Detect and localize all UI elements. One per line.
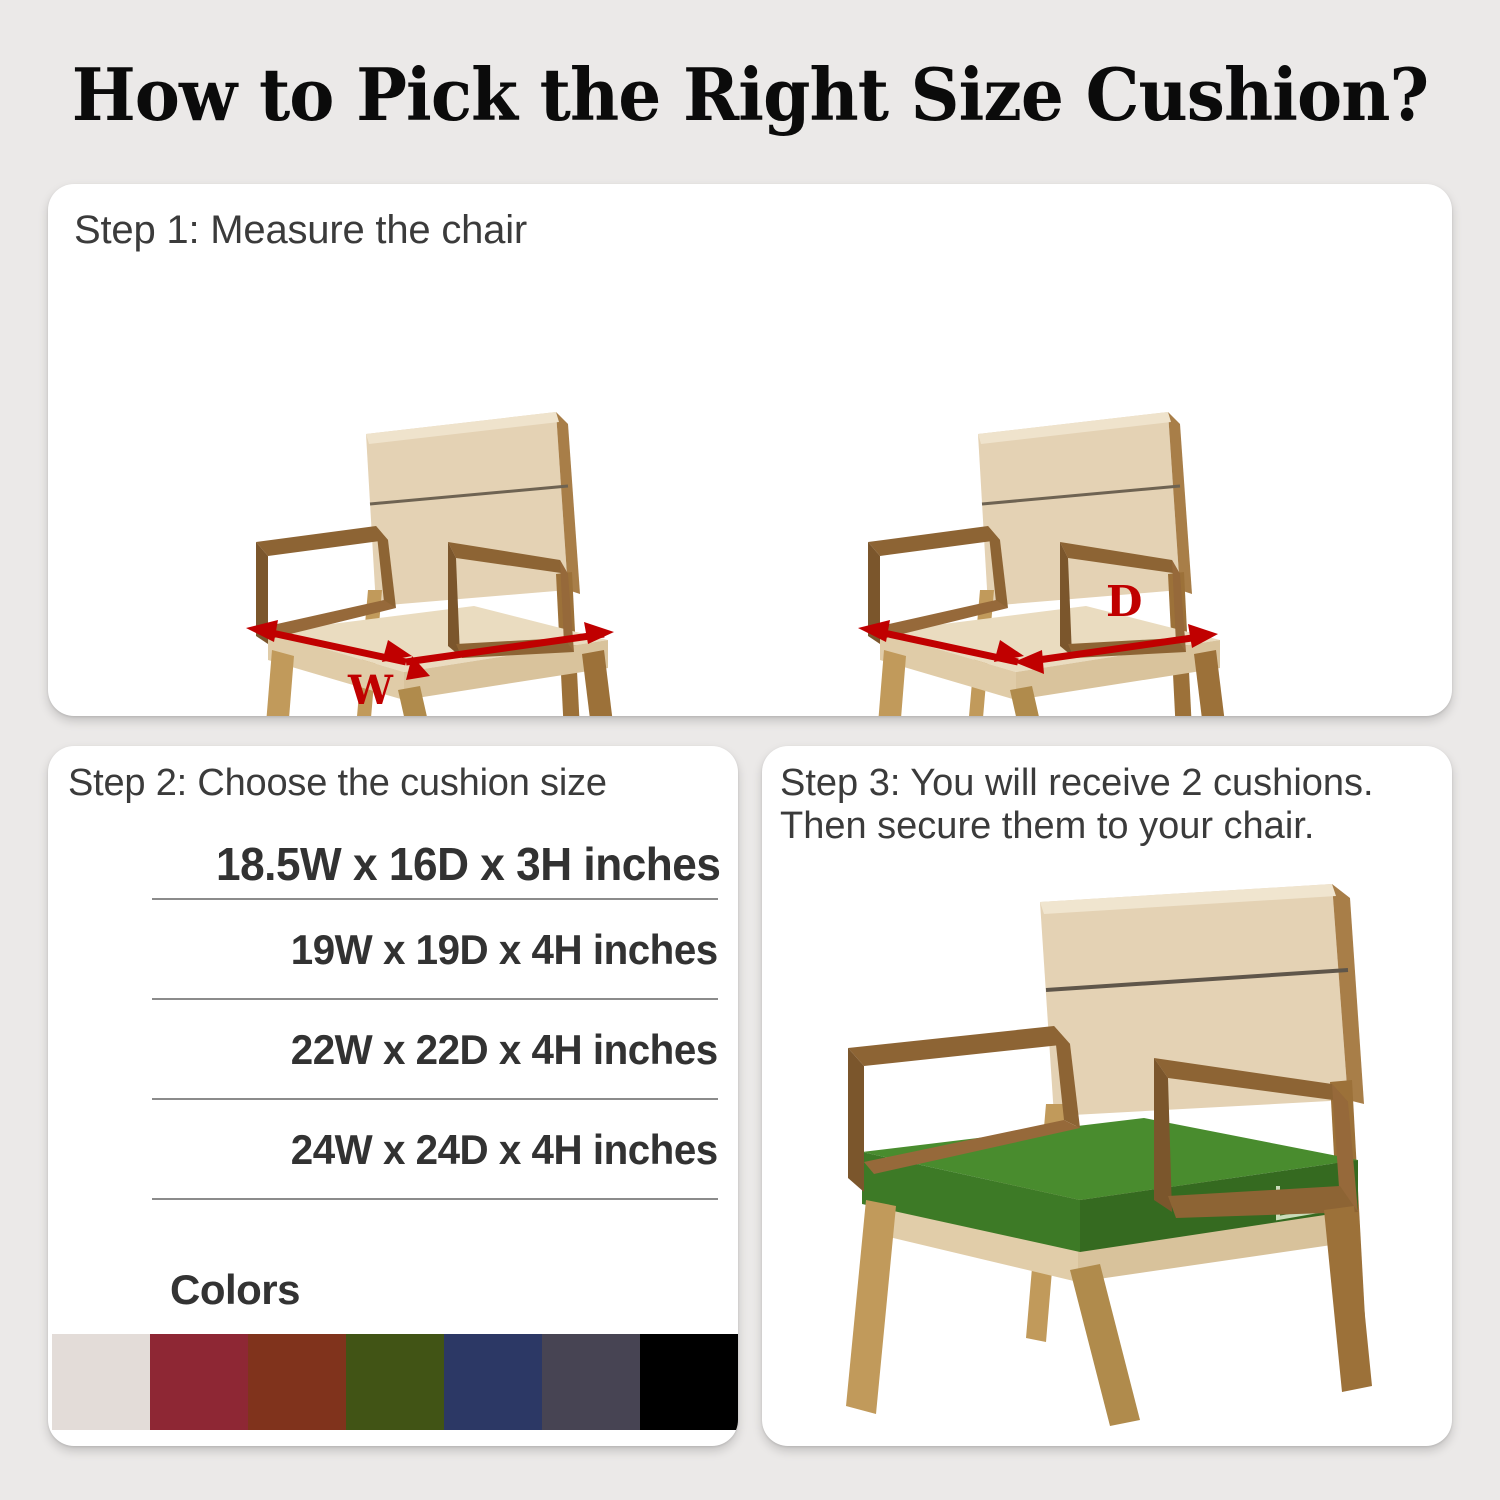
color-swatch-beige[interactable] bbox=[52, 1334, 150, 1430]
chair-back-panel bbox=[978, 412, 1180, 606]
step3-heading-line1: Step 3: You will receive 2 cushions. bbox=[780, 762, 1374, 805]
size-option[interactable]: 22W x 22D x 4H inches bbox=[60, 1000, 726, 1100]
chair-cushion-svg bbox=[832, 866, 1402, 1436]
size-option-label: 18.5W x 16D x 3H inches bbox=[216, 828, 720, 900]
arm-left-top bbox=[848, 1026, 1070, 1066]
size-option-label: 22W x 22D x 4H inches bbox=[291, 1000, 718, 1100]
size-option-label: 24W x 24D x 4H inches bbox=[291, 1100, 718, 1200]
chair-diagram-width: W bbox=[216, 394, 646, 716]
chair-depth-svg: D bbox=[828, 394, 1258, 716]
color-swatch-navy[interactable] bbox=[444, 1334, 542, 1430]
page-title: How to Pick the Right Size Cushion? bbox=[45, 52, 1455, 137]
size-option[interactable]: 24W x 24D x 4H inches bbox=[60, 1100, 726, 1200]
color-swatch-bar bbox=[52, 1334, 738, 1430]
width-label: W bbox=[347, 667, 394, 714]
colors-label: Colors bbox=[170, 1266, 300, 1314]
color-swatch-charcoal[interactable] bbox=[542, 1334, 640, 1430]
front-leg-left bbox=[846, 1200, 896, 1414]
color-swatch-black[interactable] bbox=[640, 1334, 738, 1430]
arm-left-top bbox=[256, 526, 388, 556]
color-swatch-olive[interactable] bbox=[346, 1334, 444, 1430]
chair-diagram-depth: D bbox=[828, 394, 1258, 716]
size-option[interactable]: 19W x 19D x 4H inches bbox=[60, 900, 726, 1000]
arm-left-top bbox=[868, 526, 1000, 556]
chair-width-svg: W bbox=[216, 394, 646, 716]
step1-panel: Step 1: Measure the chair bbox=[48, 184, 1452, 716]
step2-panel: Step 2: Choose the cushion size 18.5W x … bbox=[48, 746, 738, 1446]
step3-heading-line2: Then secure them to your chair. bbox=[780, 805, 1374, 848]
depth-label: D bbox=[1106, 577, 1142, 626]
size-divider bbox=[152, 1198, 718, 1200]
step3-panel: Step 3: You will receive 2 cushions. The… bbox=[762, 746, 1452, 1446]
front-leg-mid bbox=[1070, 1264, 1140, 1426]
color-swatch-rust[interactable] bbox=[248, 1334, 346, 1430]
front-leg-left bbox=[872, 650, 906, 716]
size-option-label: 19W x 19D x 4H inches bbox=[291, 900, 718, 1000]
front-leg-right bbox=[1194, 650, 1232, 716]
step3-heading: Step 3: You will receive 2 cushions. The… bbox=[780, 762, 1374, 848]
step1-heading: Step 1: Measure the chair bbox=[74, 208, 527, 253]
front-leg-right bbox=[582, 650, 620, 716]
infographic-root: How to Pick the Right Size Cushion? Step… bbox=[0, 0, 1500, 1500]
arm-left-post bbox=[848, 1048, 864, 1192]
color-swatch-crimson[interactable] bbox=[150, 1334, 248, 1430]
front-leg-right bbox=[1324, 1206, 1372, 1392]
chair-back-panel bbox=[366, 412, 568, 606]
cushion-size-list: 18.5W x 16D x 3H inches 19W x 19D x 4H i… bbox=[60, 828, 726, 1200]
chair-with-cushion-diagram bbox=[832, 866, 1402, 1436]
front-leg-left bbox=[260, 650, 294, 716]
size-option[interactable]: 18.5W x 16D x 3H inches bbox=[60, 828, 726, 900]
step2-heading: Step 2: Choose the cushion size bbox=[68, 762, 607, 805]
